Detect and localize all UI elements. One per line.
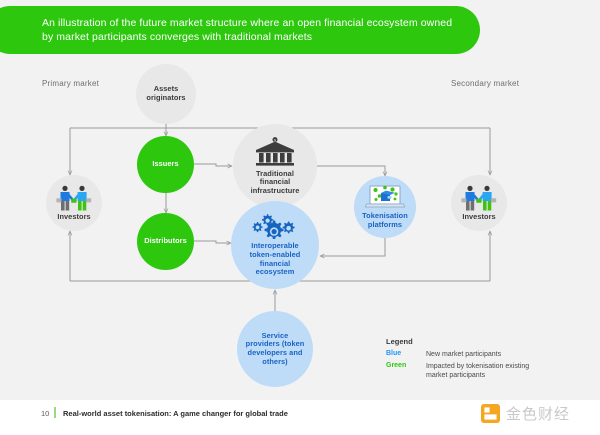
node-label: Interoperable token-enabled financial ec… (250, 242, 301, 276)
legend: Legend Blue New market participants Gree… (386, 337, 571, 383)
legend-title: Legend (386, 337, 571, 346)
watermark-text: 金色财经 (506, 403, 570, 424)
node-service-providers[interactable]: Service providers (token developers and … (237, 311, 313, 387)
node-distributors[interactable]: Distributors (137, 213, 194, 270)
bank-icon: $ (253, 137, 297, 167)
footer-separator (54, 407, 56, 418)
node-label: Tokenisation platforms (362, 212, 408, 229)
node-interoperable-ecosystem[interactable]: Interoperable token-enabled financial ec… (231, 201, 319, 289)
legend-desc-green: Impacted by tokenisation existing market… (426, 362, 529, 380)
footer-title: Real-world asset tokenisation: A game ch… (63, 409, 288, 418)
node-investors-left[interactable]: Investors (46, 175, 102, 231)
footer-page-number: 10 (41, 409, 49, 418)
legend-item-blue: Blue New market participants (386, 350, 571, 359)
handshake-icon (53, 185, 95, 211)
node-traditional-financial-infrastructure[interactable]: $ Traditional financial infrastructure (233, 124, 317, 208)
node-label: Assets originators (146, 85, 185, 102)
watermark: 金色财经 (481, 403, 570, 424)
legend-key-green: Green (386, 362, 426, 369)
node-issuers[interactable]: Issuers (137, 136, 194, 193)
node-label: Investors (57, 213, 90, 222)
page-root: An illustration of the future market str… (0, 0, 600, 435)
laptop-tokens-icon (365, 184, 405, 210)
legend-item-green: Green Impacted by tokenisation existing … (386, 362, 571, 380)
legend-key-blue: Blue (386, 350, 426, 357)
legend-desc-blue: New market participants (426, 350, 501, 359)
node-tokenisation-platforms[interactable]: Tokenisation platforms (354, 176, 416, 238)
gears-icon (251, 213, 299, 239)
node-assets-originators[interactable]: Assets originators (136, 64, 196, 124)
node-investors-right[interactable]: Investors (451, 175, 507, 231)
node-label: Service providers (token developers and … (246, 332, 305, 366)
node-label: Distributors (144, 237, 186, 246)
node-label: Investors (462, 213, 495, 222)
watermark-logo-icon (481, 404, 500, 423)
handshake-icon (458, 185, 500, 211)
node-label: Traditional financial infrastructure (251, 170, 300, 196)
node-label: Issuers (152, 160, 178, 169)
